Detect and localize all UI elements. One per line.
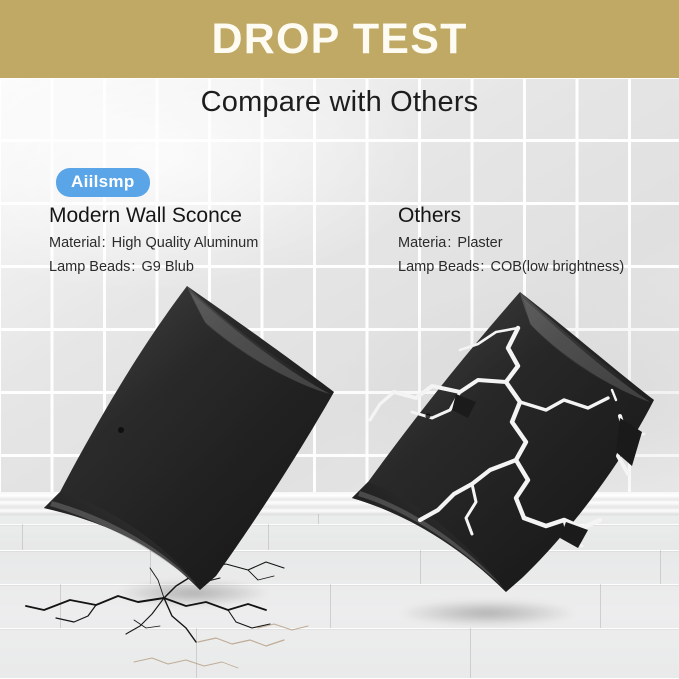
right-spec-key-lamp-beads: Lamp Beads [398,259,479,275]
right-spec-sep-lamp-beads: : [479,259,486,275]
right-spec-sep-material: : [446,235,453,251]
brand-badge-label: Aiilsmp [71,172,135,191]
left-spec-value-material: High Quality Aluminum [112,235,259,251]
left-spec-key-lamp-beads: Lamp Beads [49,259,130,275]
left-sconce-intact [0,270,360,610]
right-spec-row-lamp-beads: Lamp Beads: COB(low brightness) [398,256,624,279]
left-spec-sep-material: : [101,235,108,251]
right-product-title: Others [398,203,624,229]
right-spec-value-lamp-beads: COB(low brightness) [490,259,624,275]
right-sconce-broken [320,270,679,610]
left-spec-row-material: Material: High Quality Aluminum [49,232,258,255]
right-spec-row-material: Materia: Plaster [398,232,624,255]
subtitle: Compare with Others [0,86,679,119]
left-spec-key-material: Material [49,235,101,251]
banner-title: DROP TEST [211,18,467,61]
brand-badge-aiilsmp: Aiilsmp [56,168,150,197]
right-spec-key-material: Materia [398,235,446,251]
left-spec-sep-lamp-beads: : [130,259,137,275]
left-spec-row-lamp-beads: Lamp Beads: G9 Blub [49,256,258,279]
left-spec-value-lamp-beads: G9 Blub [141,259,193,275]
left-product-spec: Modern Wall Sconce Material: High Qualit… [49,203,258,279]
right-spec-value-material: Plaster [457,235,502,251]
drop-test-comparison-image: DROP TEST Compare with Others Aiilsmp Mo… [0,0,679,679]
drop-test-banner: DROP TEST [0,0,679,78]
right-product-spec: Others Materia: Plaster Lamp Beads: COB(… [398,203,624,279]
left-product-title: Modern Wall Sconce [49,203,258,229]
